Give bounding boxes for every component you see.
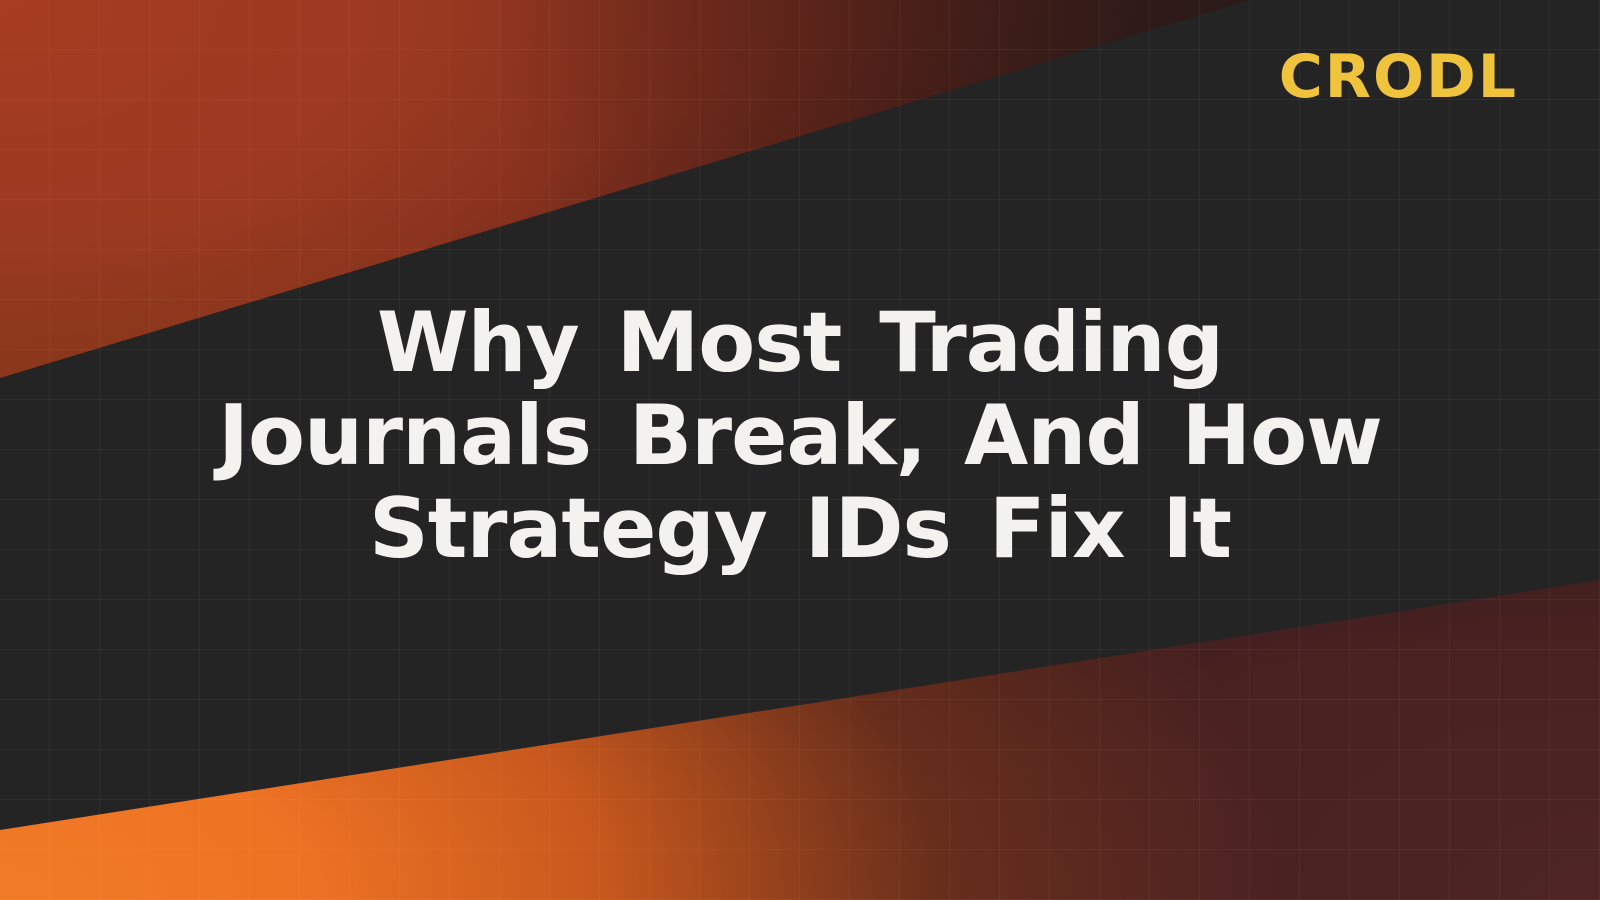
page-title: Why Most Trading Journals Break, And How…: [0, 296, 1600, 575]
brand-logo: CRODL: [1279, 47, 1518, 107]
title-line-1: Why Most Trading: [70, 296, 1530, 389]
title-line-3: Strategy IDs Fix It: [70, 482, 1530, 575]
social-banner-canvas: CRODL Why Most Trading Journals Break, A…: [0, 0, 1600, 900]
title-line-2: Journals Break, And How: [70, 389, 1530, 482]
